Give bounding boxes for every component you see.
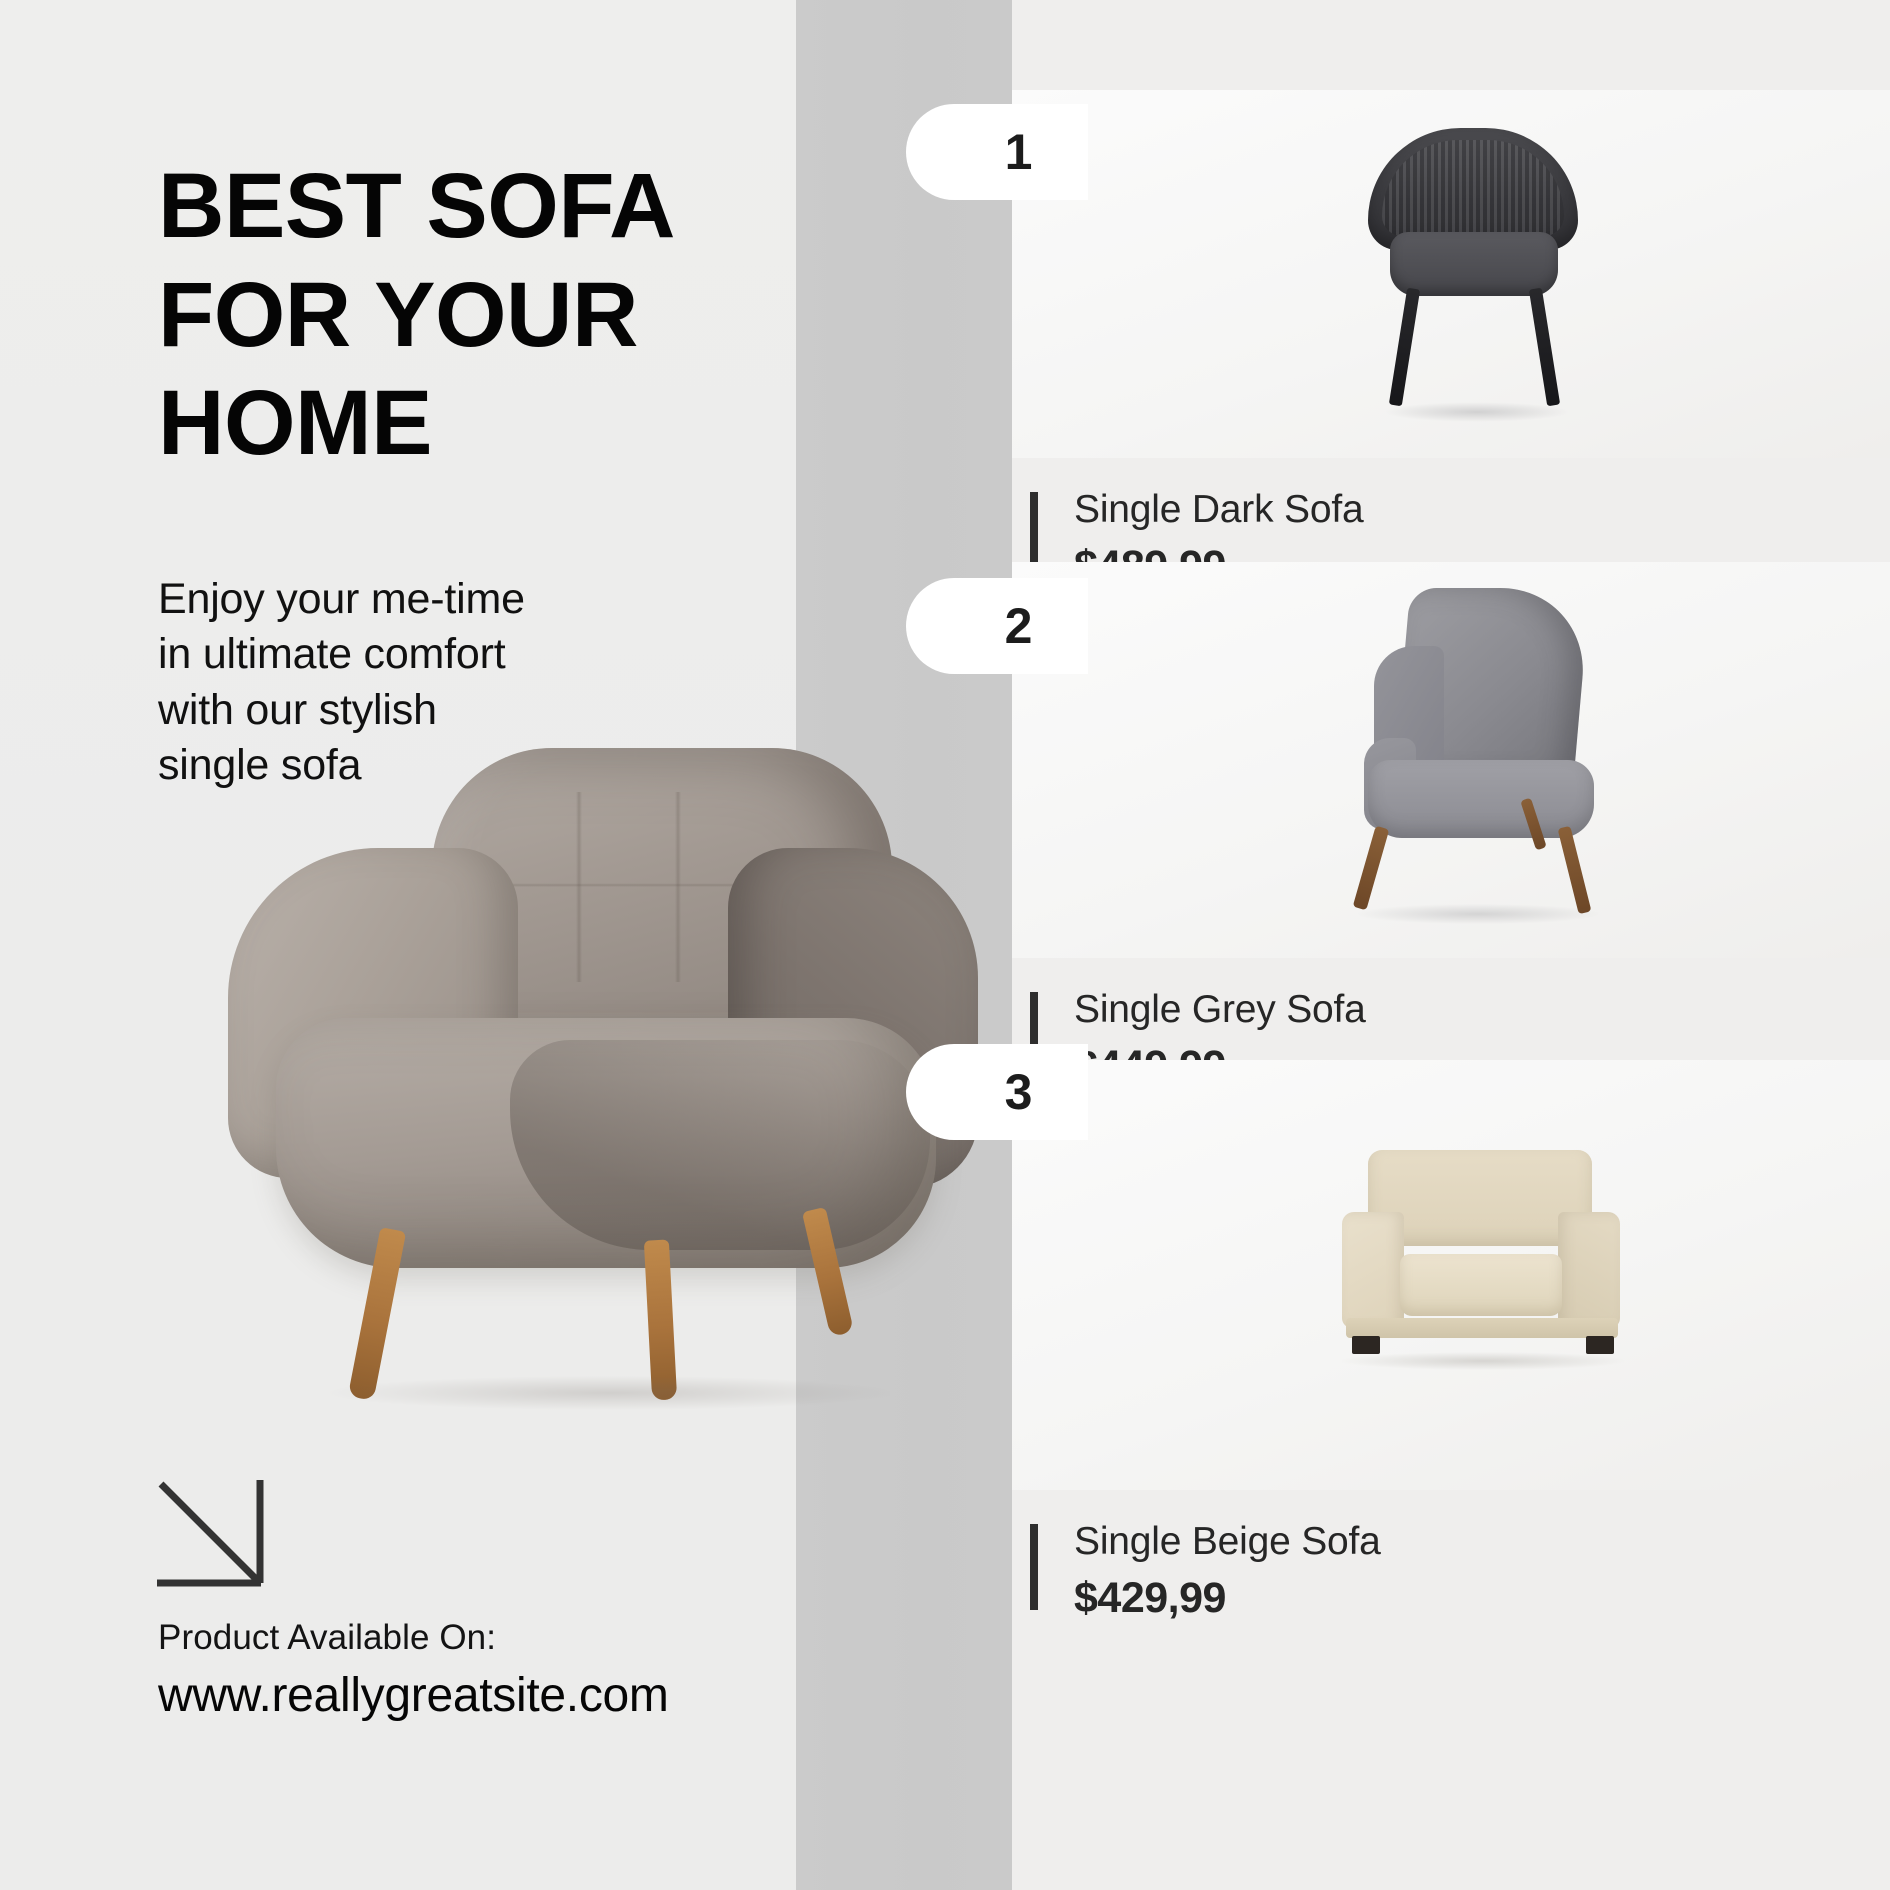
p2-leg-front-right [1558, 826, 1592, 915]
hero-seat-shading [510, 1040, 930, 1250]
product-image-3 [1012, 1060, 1890, 1490]
rank-badge-number: 1 [1005, 123, 1032, 181]
website-url[interactable]: www.reallygreatsite.com [158, 1668, 669, 1723]
rank-badge-number: 2 [1005, 597, 1032, 655]
subcopy-line-2: in ultimate comfort [158, 627, 678, 682]
product-image-2 [1012, 562, 1890, 958]
product-image-1 [1012, 90, 1890, 458]
p1-leg-right [1529, 288, 1560, 407]
dark-sofa-illustration [1342, 128, 1602, 428]
p2-seat [1368, 760, 1594, 838]
product-card-2[interactable]: Single Grey Sofa $449,99 [1012, 562, 1890, 1088]
rank-badge-3: 3 [906, 1044, 1088, 1140]
p1-seat [1390, 232, 1558, 296]
product-label-3: Single Beige Sofa $429,99 [1012, 1490, 1890, 1620]
product-name: Single Beige Sofa [1074, 1522, 1381, 1561]
product-name: Single Grey Sofa [1074, 990, 1366, 1029]
p3-seat-cushion [1400, 1254, 1562, 1316]
subcopy-line-3: with our stylish [158, 683, 678, 738]
p3-arm-right [1558, 1212, 1620, 1328]
product-price: $429,99 [1074, 1577, 1381, 1620]
product-card-1[interactable]: Single Dark Sofa $489,99 [1012, 90, 1890, 588]
product-name: Single Dark Sofa [1074, 490, 1363, 529]
p1-leg-left [1389, 288, 1420, 407]
p1-shadow [1384, 402, 1570, 422]
p3-base [1346, 1318, 1618, 1338]
rank-badge-number: 3 [1005, 1063, 1032, 1121]
beige-sofa-illustration [1312, 1150, 1642, 1410]
p3-shadow [1342, 1352, 1624, 1370]
product-available-label: Product Available On: [158, 1618, 496, 1658]
p3-arm-left [1342, 1212, 1404, 1328]
headline-line-2: FOR YOUR [158, 261, 778, 370]
rank-badge-1: 1 [906, 104, 1088, 200]
p2-shadow [1358, 904, 1598, 924]
p2-leg-front-left [1353, 826, 1390, 911]
headline-line-1: BEST SOFA [158, 152, 778, 261]
product-card-3[interactable]: Single Beige Sofa $429,99 [1012, 1060, 1890, 1620]
rank-badge-2: 2 [906, 578, 1088, 674]
diagonal-arrow-down-right-icon [155, 1478, 267, 1590]
poster-canvas: BEST SOFA FOR YOUR HOME Enjoy your me-ti… [0, 0, 1890, 1890]
headline-line-3: HOME [158, 369, 778, 478]
hero-armchair-image [180, 740, 970, 1420]
subcopy-line-1: Enjoy your me-time [158, 572, 678, 627]
hero-floor-shadow [330, 1376, 890, 1410]
grey-sofa-illustration [1312, 588, 1642, 928]
page-title: BEST SOFA FOR YOUR HOME [158, 152, 778, 478]
accent-bar [1030, 1524, 1038, 1610]
